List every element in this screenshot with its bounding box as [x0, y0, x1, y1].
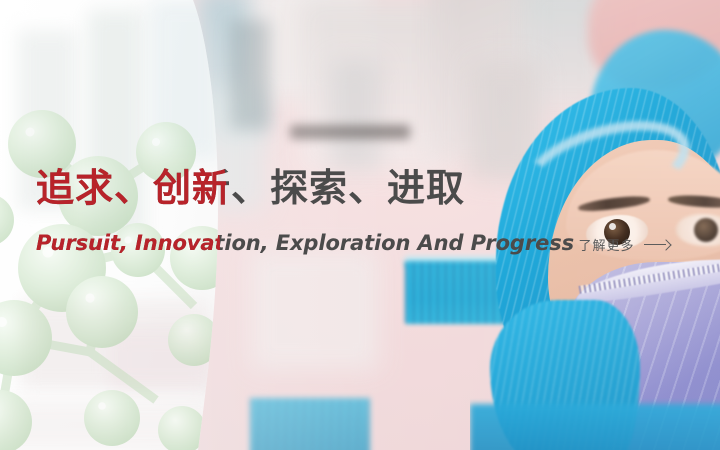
page-title: 追求、创新、探索、进取 追求、创新、探索、进取 [36, 168, 465, 209]
hero-banner: 追求、创新、探索、进取 追求、创新、探索、进取 Pursuit, Innovat… [0, 0, 720, 450]
arrow-right-icon [644, 240, 670, 250]
molecule-graphic [0, 100, 230, 450]
learn-more-button[interactable]: 了解更多 [579, 235, 670, 254]
hero-copy: 追求、创新、探索、进取 追求、创新、探索、进取 Pursuit, Innovat… [36, 168, 676, 255]
learn-more-label: 了解更多 [579, 235, 635, 254]
page-subtitle: Pursuit, Innovation, Exploration And Pro… [36, 232, 574, 255]
molecule-atoms [0, 110, 230, 450]
